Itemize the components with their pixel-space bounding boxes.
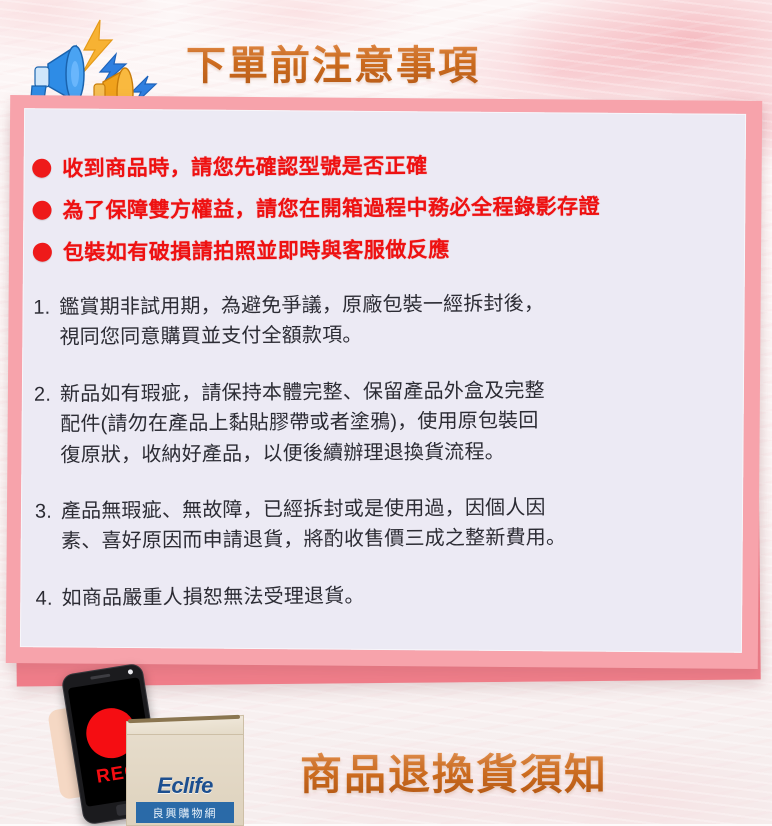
phone-speaker	[90, 674, 110, 680]
page-title: 下單前注意事項	[186, 33, 480, 91]
bullet-text: 收到商品時，請您先確認型號是否正確	[62, 150, 428, 183]
bullet-item: 包裝如有破損請拍照並即時與客服做反應	[33, 231, 745, 267]
note-item: 1. 鑑賞期非試用期，為避免爭議，原廠包裝一經拆封後， 視同您同意購買並支付全額…	[33, 287, 745, 353]
box-brand-text: 良興購物網	[153, 805, 218, 821]
card-content: 收到商品時，請您先確認型號是否正確 為了保障雙方權益，請您在開箱過程中務必全程錄…	[32, 147, 748, 640]
bullet-dot-icon	[32, 158, 51, 177]
bullet-item: 收到商品時，請您先確認型號是否正確	[32, 147, 744, 183]
note-number: 1.	[33, 293, 59, 324]
box-brand-band: 良興購物網	[136, 802, 234, 823]
bullet-text: 為了保障雙方權益，請您在開箱過程中務必全程錄影存證	[62, 190, 600, 224]
bullet-dot-icon	[33, 242, 52, 261]
phone-camera-icon	[128, 669, 134, 675]
note-item: 4. 如商品嚴重人損恕無法受理退貨。	[35, 578, 747, 614]
note-body: 新品如有瑕疵，請保持本體完整、保留產品外盒及完整 配件(請勿在產品上黏貼膠帶或者…	[60, 374, 747, 471]
note-body: 如商品嚴重人損恕無法受理退貨。	[61, 578, 747, 614]
note-line: 素、喜好原因而申請退貨，將酌收售價三成之整新費用。	[61, 522, 747, 558]
footer-title: 商品退換貨須知	[300, 741, 608, 802]
note-body: 鑑賞期非試用期，為避免爭議，原廠包裝一經拆封後， 視同您同意購買並支付全額款項。	[59, 287, 745, 353]
bullet-list: 收到商品時，請您先確認型號是否正確 為了保障雙方權益，請您在開箱過程中務必全程錄…	[32, 147, 745, 267]
note-item: 2. 新品如有瑕疵，請保持本體完整、保留產品外盒及完整 配件(請勿在產品上黏貼膠…	[34, 374, 747, 471]
notice-card: 收到商品時，請您先確認型號是否正確 為了保障雙方權益，請您在開箱過程中務必全程錄…	[8, 98, 764, 688]
note-body: 產品無瑕疵、無故障，已經拆封或是使用過，因個人因 素、喜好原因而申請退貨，將酌收…	[61, 491, 747, 557]
bullet-item: 為了保障雙方權益，請您在開箱過程中務必全程錄影存證	[32, 189, 744, 225]
box-body: Eclife 良興購物網	[126, 734, 244, 826]
bullet-dot-icon	[32, 200, 51, 219]
note-number: 2.	[34, 379, 60, 410]
shipping-box-illustration: Eclife 良興購物網	[118, 700, 250, 824]
note-line: 如商品嚴重人損恕無法受理退貨。	[61, 578, 747, 614]
note-line: 視同您同意購買並支付全額款項。	[59, 318, 745, 354]
note-number: 3.	[35, 497, 61, 528]
note-line: 復原狀，收納好產品，以便後續辦理退換貨流程。	[60, 435, 746, 471]
numbered-note-list: 1. 鑑賞期非試用期，為避免爭議，原廠包裝一經拆封後， 視同您同意購買並支付全額…	[33, 287, 748, 614]
note-number: 4.	[35, 583, 61, 614]
bullet-text: 包裝如有破損請拍照並即時與客服做反應	[63, 234, 450, 267]
eclife-logo: Eclife	[127, 773, 243, 799]
note-item: 3. 產品無瑕疵、無故障，已經拆封或是使用過，因個人因 素、喜好原因而申請退貨，…	[35, 491, 747, 557]
